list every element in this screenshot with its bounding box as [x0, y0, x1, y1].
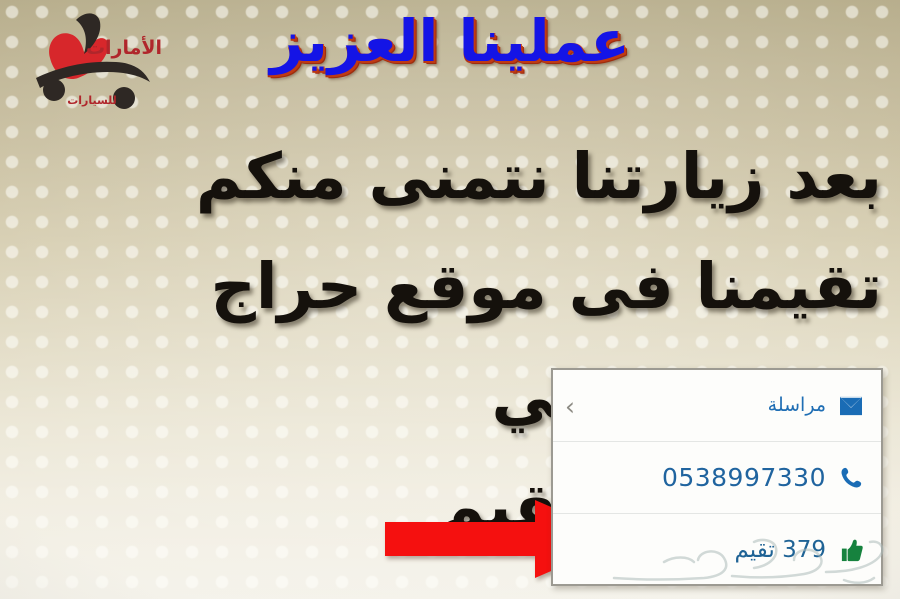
card-row-phone-number: 0538997330	[662, 465, 826, 490]
logo-wheel-right	[113, 87, 135, 109]
thumbs-up-icon	[835, 534, 867, 566]
promo-line-2: تقيمنا فى موقع حراج	[18, 232, 882, 342]
page-title: عملينا العزيز	[0, 8, 900, 75]
card-row-rating[interactable]: 379 تقيم	[553, 514, 881, 586]
envelope-icon	[835, 390, 867, 422]
watermark-text: حراج	[748, 587, 751, 589]
card-row-rating-label: 379 تقيم	[734, 539, 826, 562]
card-row-message-label: مراسلة	[768, 396, 826, 415]
card-row-phone[interactable]: 0538997330	[553, 442, 881, 514]
card-row-message[interactable]: مراسلة ‹	[553, 370, 881, 442]
back-chevron-icon[interactable]: ‹	[565, 394, 575, 419]
promo-poster: الأمارات للسيارات عملينا العزيز بعد زيار…	[0, 0, 900, 599]
logo-wheel-left	[43, 79, 65, 101]
logo-sub-text: للسيارات	[67, 94, 117, 107]
promo-line-1: بعد زيارتنا نتمنى منكم	[18, 122, 882, 232]
phone-icon	[835, 462, 867, 494]
listing-contact-card: مراسلة ‹ 0538997330 379 تقيم	[551, 368, 883, 586]
